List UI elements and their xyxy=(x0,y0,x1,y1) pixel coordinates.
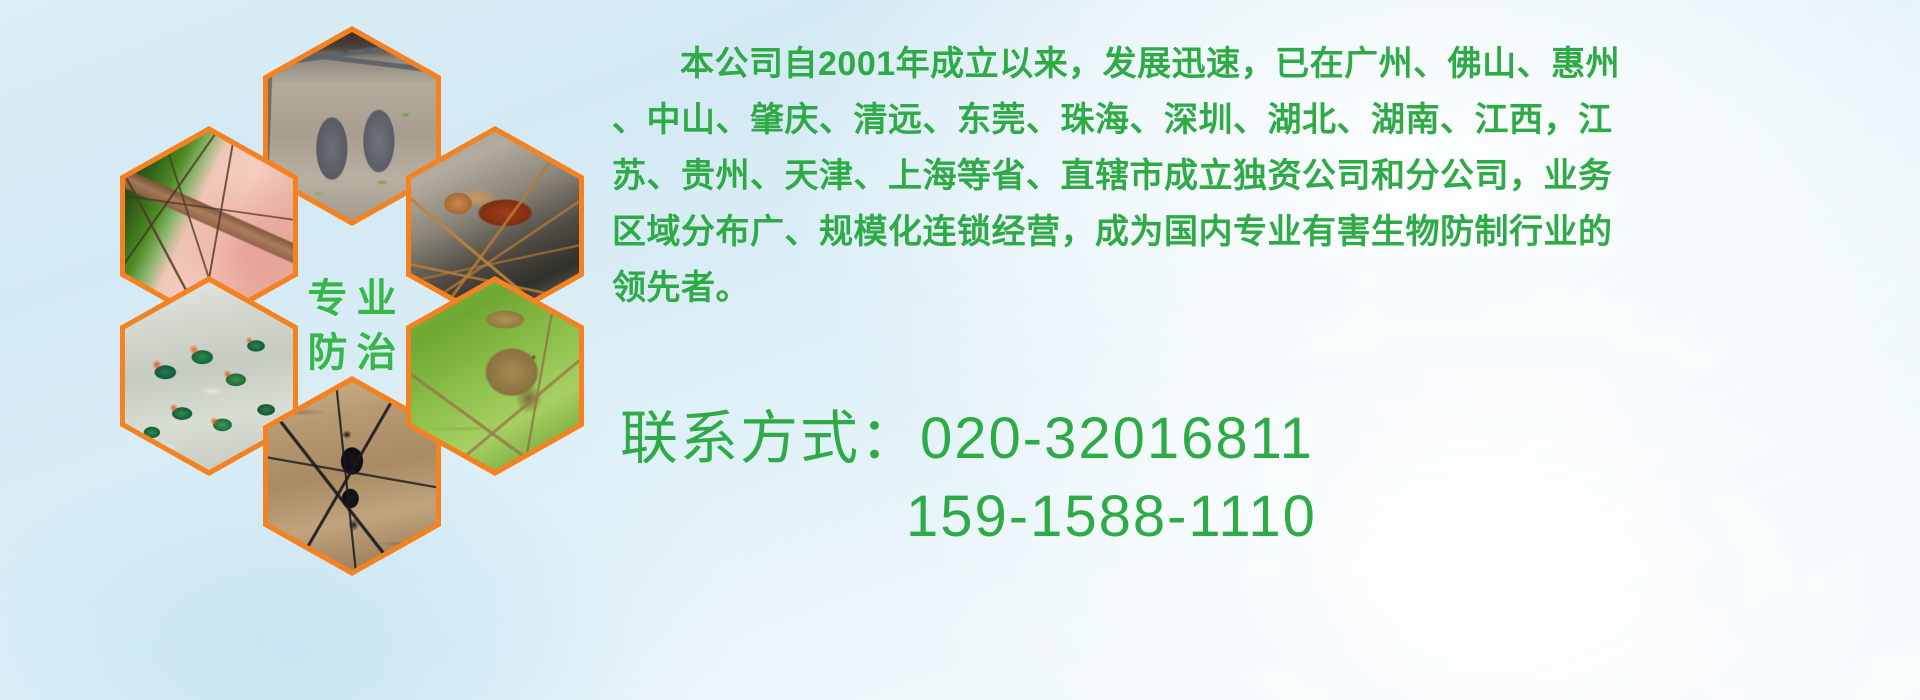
description-line-5: 领先者。 xyxy=(612,260,1872,316)
description-line-1: 本公司自2001年成立以来，发展迅速，已在广州、佛山、惠州 xyxy=(612,36,1872,92)
contact-phone-mobile[interactable]: 159-1588-1110 xyxy=(620,478,1820,556)
description-line-2: 、中山、肇庆、清远、东莞、珠海、深圳、湖北、湖南、江西，江 xyxy=(612,92,1872,148)
hex-center-slogan: 专业 防治 xyxy=(263,226,441,426)
slogan-line-2: 防治 xyxy=(299,333,406,373)
description-line-4: 区域分布广、规模化连锁经营，成为国内专业有害生物防制行业的 xyxy=(612,204,1872,260)
promo-banner: 专业 防治 本公司自2001年成立以来，发展迅速，已在广州、佛山、惠州 、中山、… xyxy=(0,0,1920,700)
contact-phone-landline[interactable]: 联系方式：020-32016811 xyxy=(620,400,1820,478)
honeycomb-image-cluster: 专业 防治 xyxy=(95,8,595,556)
slogan-line-1: 专业 xyxy=(299,279,406,319)
contact-block: 联系方式：020-32016811 159-1588-1110 xyxy=(620,400,1820,556)
company-description: 本公司自2001年成立以来，发展迅速，已在广州、佛山、惠州 、中山、肇庆、清远、… xyxy=(612,36,1872,316)
description-line-3: 苏、贵州、天津、上海等省、直辖市成立独资公司和分公司，业务 xyxy=(612,148,1872,204)
